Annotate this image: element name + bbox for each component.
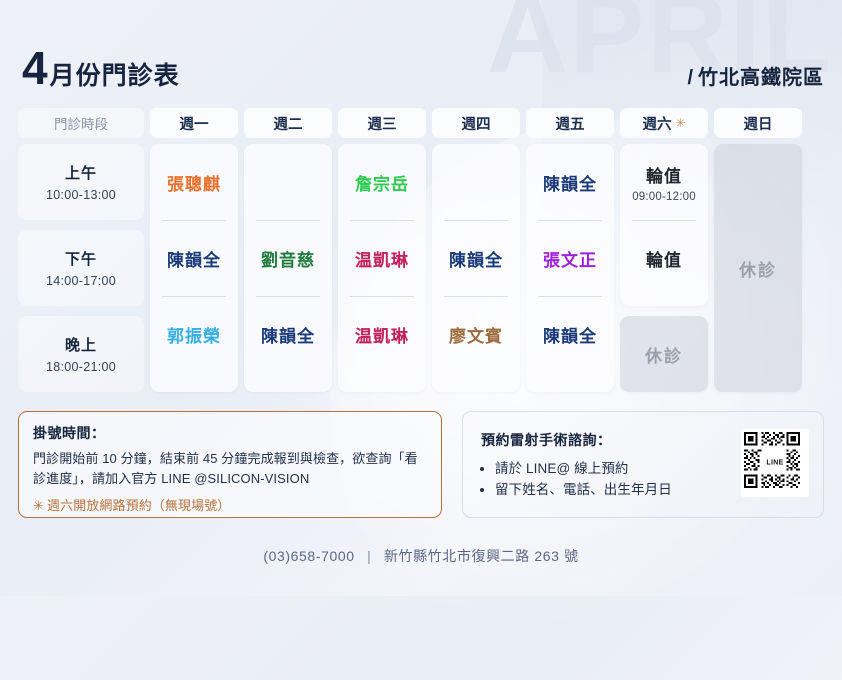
header-day-tue: 週二 xyxy=(244,108,332,138)
schedule-cell-tue-evening[interactable]: 陳韻全 xyxy=(244,296,332,372)
slot-name: 下午 xyxy=(65,248,97,269)
footer-address: 新竹縣竹北市復興二路 263 號 xyxy=(384,548,579,564)
schedule-cell-mon-morning[interactable]: 張聰麒 xyxy=(150,144,238,220)
schedule-cell-sat-evening: 休診 xyxy=(620,316,708,392)
day-card: 陳韻全 張文正 陳韻全 xyxy=(526,144,614,392)
laser-consult-list: 請於 LINE@ 線上預約 留下姓名、電話、出生年月日 xyxy=(481,459,672,500)
branch-label: /竹北高鐵院區 xyxy=(687,61,824,90)
line-qr-code[interactable]: LINE xyxy=(741,429,809,497)
doctor-name: 郭振榮 xyxy=(167,322,221,347)
time-slot-evening: 晚上 18:00-21:00 xyxy=(18,316,144,392)
time-slot-morning: 上午 10:00-13:00 xyxy=(18,144,144,220)
list-item: 請於 LINE@ 線上預約 xyxy=(495,459,672,480)
slot-time: 18:00-21:00 xyxy=(46,360,116,374)
header-day-sun: 週日 xyxy=(714,108,802,138)
registration-body: 門診開始前 10 分鐘，結束前 45 分鐘完成報到與檢查，欲查詢「看診進度」，請… xyxy=(33,449,427,488)
header-day-sat-label: 週六 xyxy=(642,113,671,134)
schedule-cell-fri-morning[interactable]: 陳韻全 xyxy=(526,144,614,220)
day-column-fri: 陳韻全 張文正 陳韻全 xyxy=(526,144,614,392)
schedule-cell-wed-afternoon[interactable]: 温凱琳 xyxy=(338,220,426,296)
header-day-mon: 週一 xyxy=(150,108,238,138)
header-day-wed: 週三 xyxy=(338,108,426,138)
schedule-cell-mon-afternoon[interactable]: 陳韻全 xyxy=(150,220,238,296)
page-title: 4 月份門診表 xyxy=(22,48,180,92)
footer-separator: | xyxy=(367,548,371,564)
day-card: 陳韻全 廖文賓 xyxy=(432,144,520,392)
time-slot-column: 上午 10:00-13:00 下午 14:00-17:00 晚上 18:00-2… xyxy=(18,144,144,402)
day-column-thu: 陳韻全 廖文賓 xyxy=(432,144,520,392)
rotation-label: 輪值 xyxy=(646,246,682,271)
closed-label: 休診 xyxy=(645,342,683,367)
day-column-tue: 劉音慈 陳韻全 xyxy=(244,144,332,392)
asterisk-icon: ✳ xyxy=(675,116,685,130)
doctor-name: 温凱琳 xyxy=(355,246,409,271)
day-card: 詹宗岳 温凱琳 温凱琳 xyxy=(338,144,426,392)
grid-header-row: 門診時段 週一 週二 週三 週四 週五 週六 ✳ 週日 xyxy=(18,108,824,138)
grid-body: 上午 10:00-13:00 下午 14:00-17:00 晚上 18:00-2… xyxy=(18,144,824,392)
day-card: 張聰麒 陳韻全 郭振榮 xyxy=(150,144,238,392)
laser-consult-box: 預約雷射手術諮詢： 請於 LINE@ 線上預約 留下姓名、電話、出生年月日 xyxy=(462,411,824,518)
registration-note: ✳週六開放網路預約（無現場號） xyxy=(33,495,427,514)
schedule-cell-wed-evening[interactable]: 温凱琳 xyxy=(338,296,426,372)
doctor-name: 温凱琳 xyxy=(355,322,409,347)
time-slot-afternoon: 下午 14:00-17:00 xyxy=(18,230,144,306)
slot-time: 14:00-17:00 xyxy=(46,274,116,288)
schedule-cell-thu-evening[interactable]: 廖文賓 xyxy=(432,296,520,372)
schedule-cell-sat-morning[interactable]: 輪值 09:00-12:00 xyxy=(620,144,708,220)
registration-info-box: 掛號時間： 門診開始前 10 分鐘，結束前 45 分鐘完成報到與檢查，欲查詢「看… xyxy=(18,411,442,518)
schedule-cell-thu-morning[interactable] xyxy=(432,144,520,220)
title-suffix: 月份門診表 xyxy=(50,56,180,92)
registration-note-text: 週六開放網路預約（無現場號） xyxy=(47,498,230,513)
day-card-closed: 休診 xyxy=(714,144,802,392)
header-slot-column: 門診時段 xyxy=(18,108,144,138)
schedule-cell-tue-afternoon[interactable]: 劉音慈 xyxy=(244,220,332,296)
day-card-closed: 休診 xyxy=(620,316,708,392)
branch-name: 竹北高鐵院區 xyxy=(698,67,824,89)
schedule-grid: 門診時段 週一 週二 週三 週四 週五 週六 ✳ 週日 上午 10:00-13:… xyxy=(18,108,824,392)
day-column-sun: 休診 xyxy=(714,144,802,392)
month-number: 4 xyxy=(22,48,47,89)
asterisk-icon: ✳ xyxy=(33,498,44,513)
schedule-cell-sat-afternoon[interactable]: 輪值 xyxy=(620,220,708,296)
doctor-name: 陳韻全 xyxy=(543,170,597,195)
doctor-name: 陳韻全 xyxy=(167,246,221,271)
closed-label: 休診 xyxy=(739,256,777,281)
list-item: 留下姓名、電話、出生年月日 xyxy=(495,480,672,501)
doctor-name: 陳韻全 xyxy=(449,246,503,271)
doctor-name: 陳韻全 xyxy=(261,322,315,347)
schedule-cell-sun-all: 休診 xyxy=(714,144,802,392)
day-column-mon: 張聰麒 陳韻全 郭振榮 xyxy=(150,144,238,392)
laser-consult-text: 預約雷射手術諮詢： 請於 LINE@ 線上預約 留下姓名、電話、出生年月日 xyxy=(481,428,672,500)
laser-consult-heading: 預約雷射手術諮詢： xyxy=(481,430,672,450)
rotation-label: 輪值 xyxy=(646,162,682,187)
day-column-sat: 輪值 09:00-12:00 輪值 休診 xyxy=(620,144,708,392)
footer-contact: (03)658-7000 | 新竹縣竹北市復興二路 263 號 xyxy=(0,546,842,566)
schedule-cell-thu-afternoon[interactable]: 陳韻全 xyxy=(432,220,520,296)
registration-heading: 掛號時間： xyxy=(33,423,427,443)
slot-name: 晚上 xyxy=(65,334,97,355)
schedule-cell-wed-morning[interactable]: 詹宗岳 xyxy=(338,144,426,220)
doctor-name: 張文正 xyxy=(543,246,597,271)
doctor-name: 詹宗岳 xyxy=(355,170,409,195)
schedule-cell-mon-evening[interactable]: 郭振榮 xyxy=(150,296,238,372)
day-card: 輪值 09:00-12:00 輪值 xyxy=(620,144,708,306)
doctor-name: 張聰麒 xyxy=(167,170,221,195)
doctor-name: 廖文賓 xyxy=(449,322,503,347)
doctor-name: 陳韻全 xyxy=(543,322,597,347)
header-day-thu: 週四 xyxy=(432,108,520,138)
schedule-cell-fri-afternoon[interactable]: 張文正 xyxy=(526,220,614,296)
doctor-name: 劉音慈 xyxy=(261,246,315,271)
schedule-cell-tue-morning[interactable] xyxy=(244,144,332,220)
poster-header: 4 月份門診表 /竹北高鐵院區 xyxy=(22,34,824,92)
schedule-cell-fri-evening[interactable]: 陳韻全 xyxy=(526,296,614,372)
day-card: 劉音慈 陳韻全 xyxy=(244,144,332,392)
rotation-time: 09:00-12:00 xyxy=(632,191,696,203)
footer-phone: (03)658-7000 xyxy=(263,548,354,564)
header-day-sat: 週六 ✳ xyxy=(620,108,708,138)
slot-time: 10:00-13:00 xyxy=(46,188,116,202)
clinic-schedule-poster: APRIL 4 月份門診表 /竹北高鐵院區 門診時段 週一 週二 週三 週四 週… xyxy=(0,0,842,596)
branch-slash: / xyxy=(687,67,694,89)
day-column-wed: 詹宗岳 温凱琳 温凱琳 xyxy=(338,144,426,392)
header-day-fri: 週五 xyxy=(526,108,614,138)
qr-center-label: LINE xyxy=(764,459,785,468)
slot-name: 上午 xyxy=(65,162,97,183)
